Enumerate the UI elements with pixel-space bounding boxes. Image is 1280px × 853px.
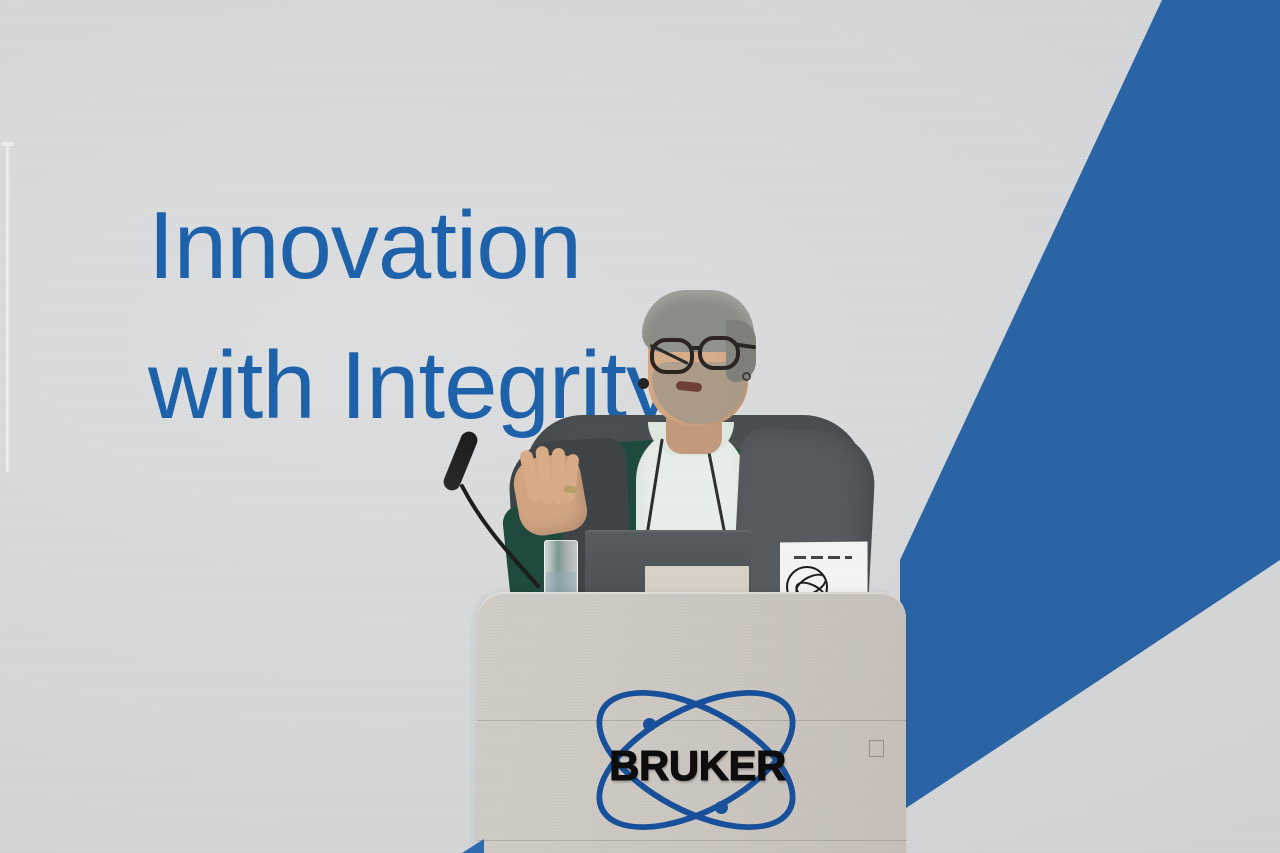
bruker-logo: BRUKER <box>565 700 830 825</box>
wall-panel-seam <box>6 145 11 472</box>
glasses-right-lens-icon <box>698 336 740 370</box>
lectern-seam <box>478 840 906 841</box>
bruker-wordmark: BRUKER <box>565 742 830 790</box>
table-card-text-lines <box>794 556 852 559</box>
screenshot-root: Innovation with Integrity <box>0 0 1280 853</box>
paper-sheet <box>645 566 749 594</box>
atom-node-icon <box>715 801 728 814</box>
glasses-bridge <box>692 346 702 350</box>
microphone-gooseneck-stem <box>440 428 560 608</box>
finger-ring <box>564 485 578 493</box>
atom-node-icon <box>643 718 656 731</box>
gooseneck-microphone <box>440 428 560 608</box>
tagline-line-1: Innovation <box>148 192 581 299</box>
headset-mic-tip <box>638 378 649 389</box>
earring-icon <box>742 372 751 381</box>
lectern-label-plate <box>869 740 884 757</box>
